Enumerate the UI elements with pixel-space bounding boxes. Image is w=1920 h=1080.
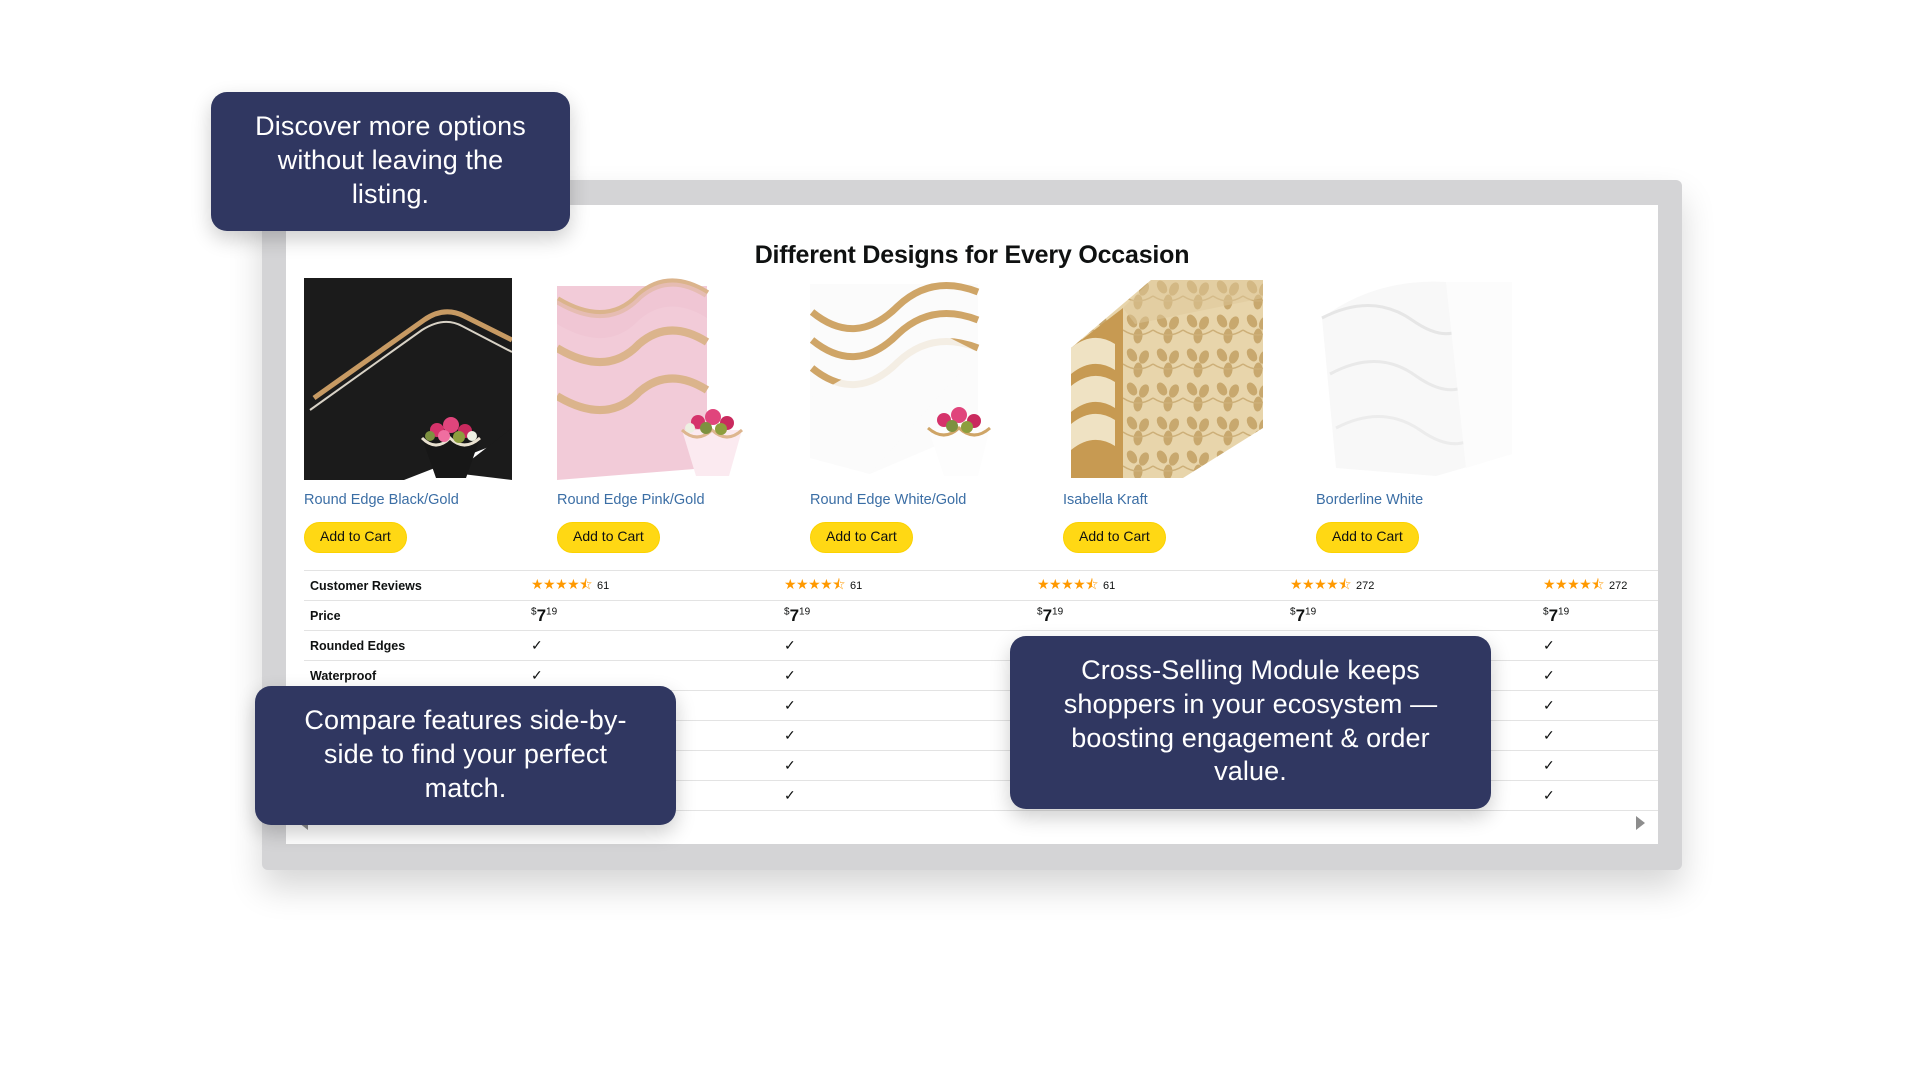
add-to-cart-button-5[interactable]: Add to Cart [1316, 522, 1419, 552]
price-value: $719 [1290, 606, 1316, 625]
feature-yes-icon: ✓ [781, 721, 1034, 751]
product-card-1[interactable]: Round Edge Black/Gold Add to Cart [304, 278, 512, 553]
rating-cell: ★★★★⯪61 [781, 571, 1034, 601]
review-count: 61 [850, 580, 862, 592]
product-strip: Round Edge Black/Gold Add to Cart [304, 278, 1640, 553]
rating-cell: ★★★★⯪61 [528, 571, 781, 601]
row-label: Price [304, 601, 528, 631]
review-count: 61 [597, 580, 609, 592]
check-icon: ✓ [1543, 637, 1555, 653]
row-label: Customer Reviews [304, 571, 528, 601]
feature-yes-icon: ✓ [781, 751, 1034, 781]
callout-discover-more: Discover more options without leaving th… [211, 92, 570, 231]
feature-yes-icon: ✓ [1540, 691, 1658, 721]
screenshot-stage: Different Designs for Every Occasion [0, 0, 1920, 1080]
product-card-5[interactable]: Borderline White Add to Cart [1316, 278, 1524, 553]
product-title-4[interactable]: Isabella Kraft [1063, 492, 1148, 509]
rating-cell: ★★★★⯪272 [1287, 571, 1540, 601]
row-label: Rounded Edges [304, 631, 528, 661]
table-row: Customer Reviews★★★★⯪61★★★★⯪61★★★★⯪61★★★… [304, 571, 1658, 601]
price-value: $719 [784, 606, 810, 625]
feature-yes-icon: ✓ [781, 781, 1034, 811]
module-title: Different Designs for Every Occasion [286, 241, 1658, 270]
check-icon: ✓ [784, 757, 796, 773]
product-title-2[interactable]: Round Edge Pink/Gold [557, 492, 705, 509]
check-icon: ✓ [784, 667, 796, 683]
star-rating-icon: ★★★★⯪ [784, 574, 845, 598]
star-rating-icon: ★★★★⯪ [531, 574, 592, 598]
add-to-cart-button-1[interactable]: Add to Cart [304, 522, 407, 552]
feature-yes-icon: ✓ [781, 631, 1034, 661]
check-icon: ✓ [784, 787, 796, 803]
check-icon: ✓ [531, 667, 543, 683]
review-count: 61 [1103, 580, 1115, 592]
feature-yes-icon: ✓ [1540, 631, 1658, 661]
check-icon: ✓ [1543, 697, 1555, 713]
review-count: 272 [1609, 580, 1627, 592]
product-image-isabella-kraft[interactable] [1063, 278, 1271, 480]
star-rating-icon: ★★★★⯪ [1543, 574, 1604, 598]
check-icon: ✓ [784, 727, 796, 743]
feature-yes-icon: ✓ [1540, 781, 1658, 811]
price-cell: $719 [781, 601, 1034, 631]
star-rating-icon: ★★★★⯪ [1037, 574, 1098, 598]
check-icon: ✓ [1543, 667, 1555, 683]
check-icon: ✓ [784, 637, 796, 653]
review-count: 272 [1356, 580, 1374, 592]
feature-yes-icon: ✓ [781, 661, 1034, 691]
feature-yes-icon: ✓ [528, 631, 781, 661]
callout-compare-features: Compare features side-by-side to find yo… [255, 686, 676, 825]
add-to-cart-button-4[interactable]: Add to Cart [1063, 522, 1166, 552]
table-row: Price$719$719$719$719$719 [304, 601, 1658, 631]
price-value: $719 [1037, 606, 1063, 625]
feature-yes-icon: ✓ [1540, 751, 1658, 781]
product-card-2[interactable]: Round Edge Pink/Gold Add to Cart [557, 278, 765, 553]
star-rating-icon: ★★★★⯪ [1290, 574, 1351, 598]
rating-cell: ★★★★⯪61 [1034, 571, 1287, 601]
product-title-5[interactable]: Borderline White [1316, 492, 1423, 509]
product-image-borderline-white[interactable] [1316, 278, 1524, 480]
check-icon: ✓ [1543, 757, 1555, 773]
product-image-white-gold[interactable] [810, 278, 1018, 480]
callout-cross-selling: Cross-Selling Module keeps shoppers in y… [1010, 636, 1491, 809]
feature-yes-icon: ✓ [1540, 661, 1658, 691]
add-to-cart-button-2[interactable]: Add to Cart [557, 522, 660, 552]
price-cell: $719 [1287, 601, 1540, 631]
check-icon: ✓ [784, 697, 796, 713]
price-cell: $719 [1540, 601, 1658, 631]
price-cell: $719 [528, 601, 781, 631]
product-title-3[interactable]: Round Edge White/Gold [810, 492, 966, 509]
check-icon: ✓ [1543, 787, 1555, 803]
add-to-cart-button-3[interactable]: Add to Cart [810, 522, 913, 552]
price-value: $719 [1543, 606, 1569, 625]
check-icon: ✓ [531, 637, 543, 653]
check-icon: ✓ [1543, 727, 1555, 743]
triangle-right-icon[interactable] [1636, 816, 1645, 830]
product-title-1[interactable]: Round Edge Black/Gold [304, 492, 459, 509]
feature-yes-icon: ✓ [781, 691, 1034, 721]
rating-cell: ★★★★⯪272 [1540, 571, 1658, 601]
product-image-pink-gold[interactable] [557, 278, 765, 480]
product-card-3[interactable]: Round Edge White/Gold Add to Cart [810, 278, 1018, 553]
price-value: $719 [531, 606, 557, 625]
product-card-4[interactable]: Isabella Kraft Add to Cart [1063, 278, 1271, 553]
price-cell: $719 [1034, 601, 1287, 631]
feature-yes-icon: ✓ [1540, 721, 1658, 751]
product-image-black-gold[interactable] [304, 278, 512, 480]
